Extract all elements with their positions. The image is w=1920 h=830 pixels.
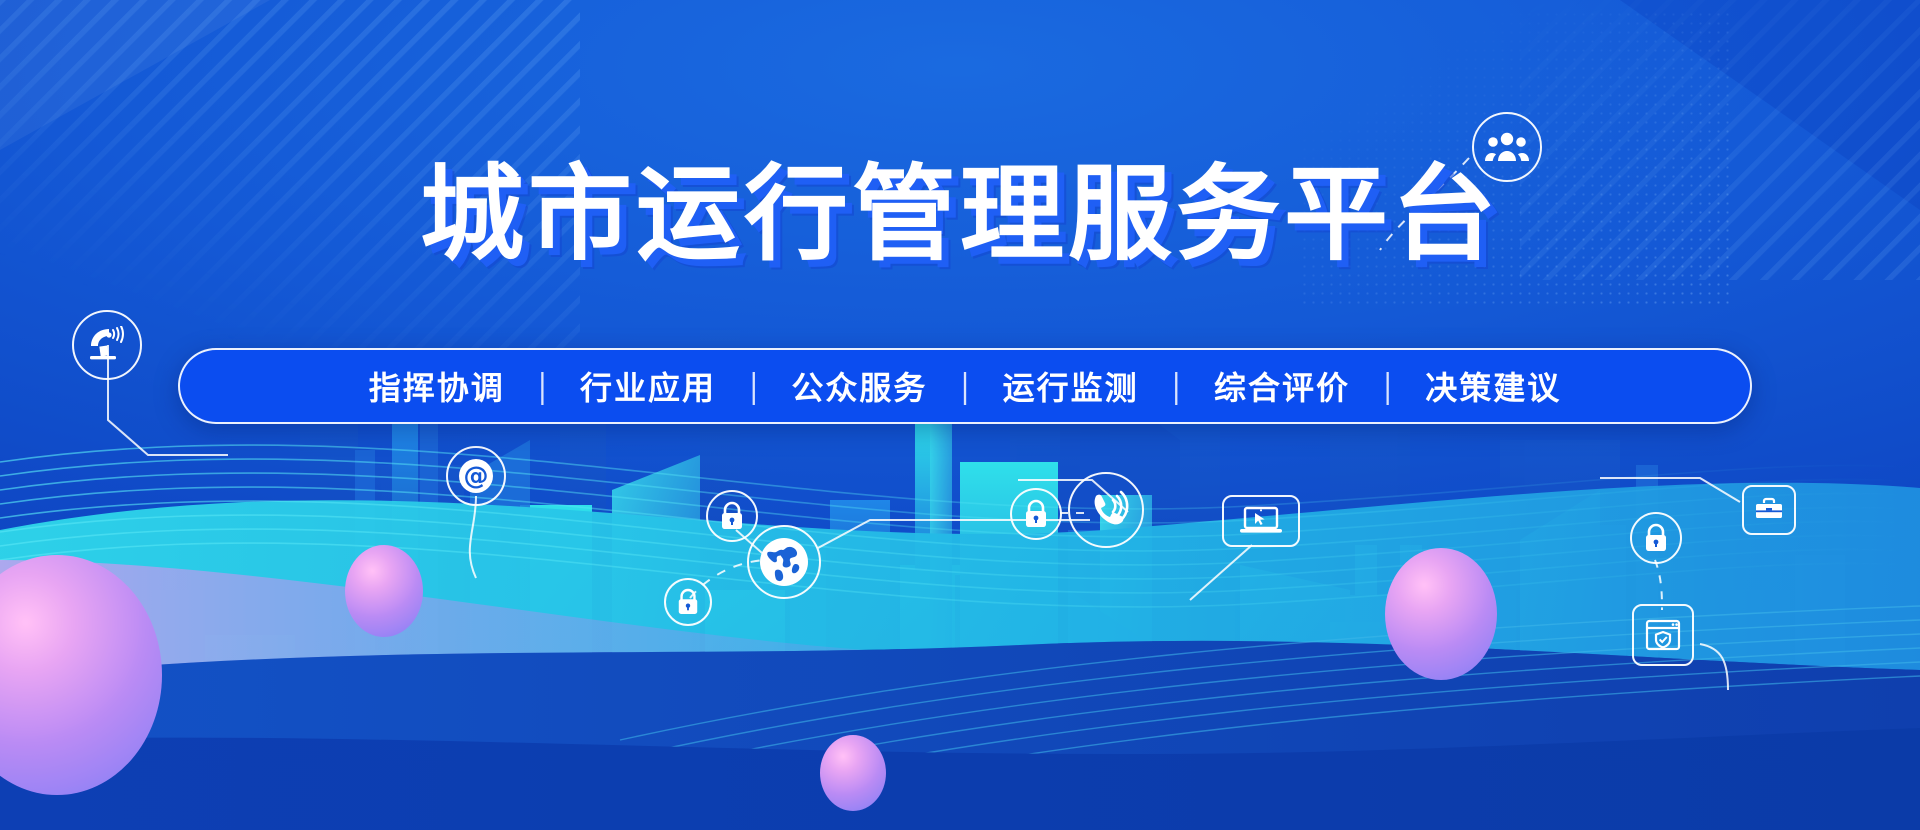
phone-call-icon[interactable]	[1068, 472, 1144, 548]
phone-call-glyph	[1082, 486, 1130, 534]
lock-glyph-phone	[1023, 499, 1049, 529]
top-left-shard	[0, 0, 270, 150]
nav-item-command-coordination[interactable]: 指挥协调	[335, 363, 539, 409]
nav-item-public-service[interactable]: 公众服务	[757, 363, 961, 409]
lock-glyph-small	[676, 588, 700, 616]
at-sign-icon[interactable]: @	[446, 446, 506, 506]
nav-separator: |	[1173, 366, 1180, 406]
lock-icon[interactable]	[706, 490, 758, 542]
at-sign-glyph: @	[456, 456, 496, 496]
page-title-wrap: 城市运行管理服务平台	[0, 160, 1920, 269]
lock-icon-right[interactable]	[1630, 512, 1682, 564]
browser-shield-icon[interactable]	[1632, 604, 1694, 666]
nav-separator: |	[1384, 366, 1391, 406]
satellite-dish-glyph	[87, 326, 127, 364]
satellite-dish-icon[interactable]	[72, 310, 142, 380]
nav-item-industry-application[interactable]: 行业应用	[546, 363, 750, 409]
svg-text:@: @	[464, 461, 489, 490]
briefcase-icon[interactable]	[1742, 485, 1796, 535]
nav-item-operation-monitoring[interactable]: 运行监测	[969, 363, 1173, 409]
laptop-cursor-icon[interactable]	[1222, 495, 1300, 547]
globe-glyph	[756, 534, 812, 590]
briefcase-glyph	[1752, 495, 1786, 525]
lock-icon-phone[interactable]	[1010, 488, 1062, 540]
nav-separator: |	[539, 366, 546, 406]
laptop-cursor-glyph	[1235, 504, 1287, 538]
page-title: 城市运行管理服务平台	[420, 160, 1500, 269]
nav-item-comprehensive-evaluation[interactable]: 综合评价	[1180, 363, 1384, 409]
nav-separator: |	[750, 366, 757, 406]
sphere-large-left	[0, 555, 162, 795]
lock-glyph-right	[1643, 523, 1669, 553]
nav-item-decision-advice[interactable]: 决策建议	[1391, 363, 1595, 409]
sphere-small-bottom-center	[820, 735, 886, 811]
sphere-small-top-left	[345, 545, 423, 637]
lock-icon-small[interactable]	[664, 578, 712, 626]
banner-canvas: @	[0, 0, 1920, 830]
lock-glyph	[719, 501, 745, 531]
sphere-right	[1385, 548, 1497, 680]
primary-nav-bar[interactable]: 指挥协调|行业应用|公众服务|运行监测|综合评价|决策建议	[178, 348, 1752, 424]
nav-separator: |	[961, 366, 968, 406]
browser-shield-glyph	[1642, 614, 1684, 656]
globe-icon[interactable]	[747, 525, 821, 599]
